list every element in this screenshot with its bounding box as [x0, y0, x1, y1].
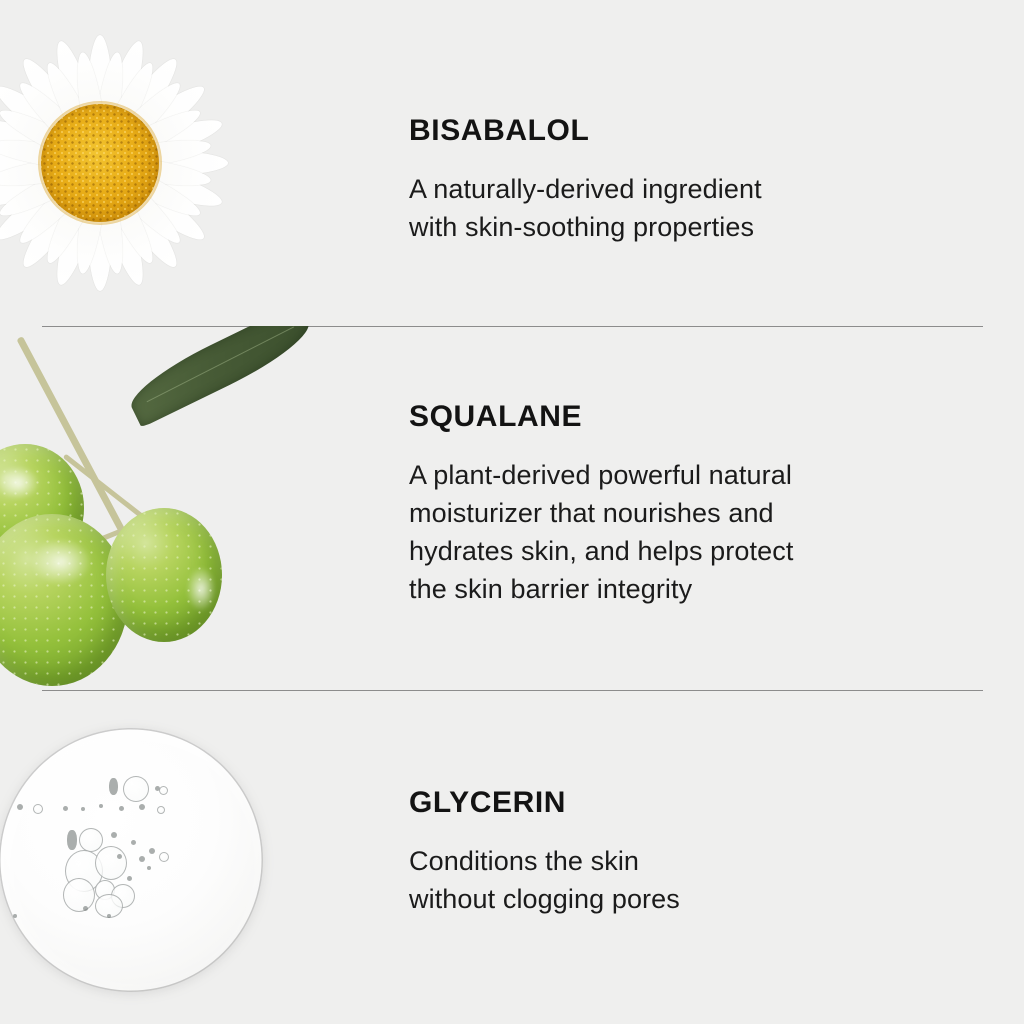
green-olives-photo: [0, 326, 400, 690]
clear-gel-droplet-photo: [0, 690, 400, 1024]
ingredient-section-squalane: SQUALANE A plant-derived powerful natura…: [0, 326, 1024, 690]
ingredient-infographic: BISABALOL A naturally-derived ingredient…: [0, 0, 1024, 1024]
ingredient-description-bisabalol: A naturally-derived ingredient with skin…: [409, 170, 1009, 246]
ingredient-section-bisabalol: BISABALOL A naturally-derived ingredient…: [0, 0, 1024, 326]
gel-droplet-graphic: [0, 728, 263, 992]
ingredient-title-bisabalol: BISABALOL: [409, 114, 1009, 148]
bisabalol-copy-block: BISABALOL A naturally-derived ingredient…: [409, 114, 1009, 246]
glycerin-copy-block: GLYCERIN Conditions the skin without clo…: [409, 786, 1009, 918]
daisy-center-texture: [41, 104, 159, 222]
ingredient-title-squalane: SQUALANE: [409, 400, 1009, 434]
daisy-flower-photo: [0, 0, 400, 326]
squalane-copy-block: SQUALANE A plant-derived powerful natura…: [409, 400, 1009, 608]
ingredient-description-squalane: A plant-derived powerful natural moistur…: [409, 456, 1009, 608]
ingredient-description-glycerin: Conditions the skin without clogging por…: [409, 842, 1009, 918]
ingredient-title-glycerin: GLYCERIN: [409, 786, 1009, 820]
ingredient-section-glycerin: GLYCERIN Conditions the skin without clo…: [0, 690, 1024, 1024]
olive-leaf: [122, 326, 317, 428]
